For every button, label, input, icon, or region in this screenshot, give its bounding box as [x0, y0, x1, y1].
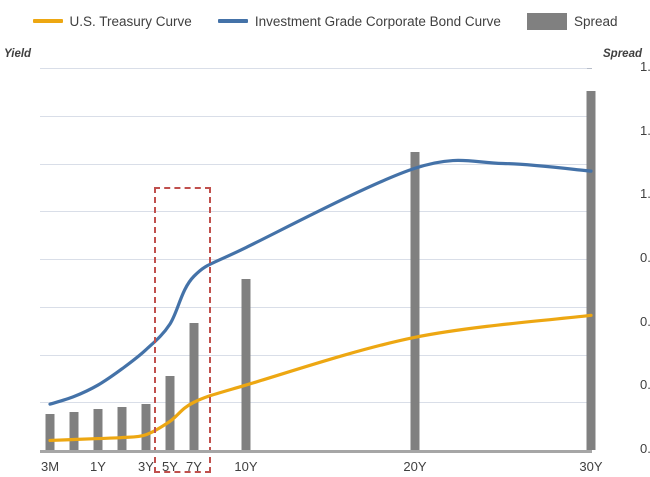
legend-item-spread: Spread — [527, 13, 618, 30]
x-tick-label-3m: 3M — [41, 459, 59, 474]
legend-label-spread: Spread — [574, 14, 618, 29]
x-tick-label-5y: 5Y — [162, 459, 178, 474]
legend-label-treasury: U.S. Treasury Curve — [70, 14, 192, 29]
x-tick-label-30y: 30Y — [579, 459, 602, 474]
corporate-curve-line — [50, 160, 591, 404]
right-tick-label: 1.5% — [640, 59, 650, 74]
x-tick-label-1y: 1Y — [90, 459, 106, 474]
x-tick-label-20y: 20Y — [403, 459, 426, 474]
right-tick-label: 1.0% — [640, 186, 650, 201]
x-tick-label-7y: 7Y — [186, 459, 202, 474]
left-axis-title: Yield — [4, 48, 31, 60]
curve-lines — [40, 62, 592, 453]
plot-area: 4.0%3.5%3.0%2.5%2.0%1.5%1.0%0.5%0.0% 1.5… — [40, 62, 592, 453]
x-axis-baseline — [40, 450, 592, 453]
treasury-line-swatch-icon — [33, 19, 63, 23]
yield-curve-chart: U.S. Treasury Curve Investment Grade Cor… — [0, 0, 650, 477]
right-tick-label: 0.0% — [640, 441, 650, 456]
highlight-region-5y-7y — [154, 187, 211, 473]
right-axis-title: Spread — [603, 48, 642, 60]
x-tick-label-10y: 10Y — [234, 459, 257, 474]
right-tick-label: 0.3% — [640, 377, 650, 392]
legend-item-corporate: Investment Grade Corporate Bond Curve — [218, 14, 501, 29]
corporate-line-swatch-icon — [218, 19, 248, 23]
right-tick-label: 0.8% — [640, 250, 650, 265]
spread-bar-swatch-icon — [527, 13, 567, 30]
chart-legend: U.S. Treasury Curve Investment Grade Cor… — [0, 8, 650, 34]
right-tick-label: 1.3% — [640, 123, 650, 138]
right-tick-label: 0.5% — [640, 314, 650, 329]
legend-label-corporate: Investment Grade Corporate Bond Curve — [255, 14, 501, 29]
legend-item-treasury: U.S. Treasury Curve — [33, 14, 192, 29]
x-tick-label-3y: 3Y — [138, 459, 154, 474]
treasury-curve-line — [50, 315, 591, 440]
